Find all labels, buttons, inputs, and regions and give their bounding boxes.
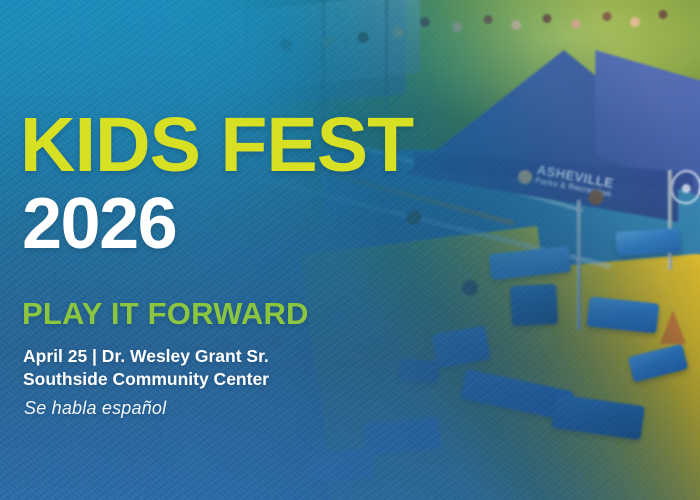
poster-venue-line2: Southside Community Center <box>23 368 269 391</box>
poster-tagline: PLAY IT FORWARD <box>22 296 309 332</box>
poster-text-content: KIDS FEST 2026 PLAY IT FORWARD April 25 … <box>20 0 490 500</box>
poster-headline: KIDS FEST <box>20 112 413 180</box>
poster-spanish-note: Se habla español <box>24 398 166 419</box>
poster-venue-line1: April 25 | Dr. Wesley Grant Sr. <box>23 345 269 368</box>
poster-venue: April 25 | Dr. Wesley Grant Sr. Southsid… <box>23 345 269 391</box>
poster-year: 2026 <box>22 192 176 257</box>
event-poster: ASHEVILLE Parks & Recreation <box>0 0 700 500</box>
